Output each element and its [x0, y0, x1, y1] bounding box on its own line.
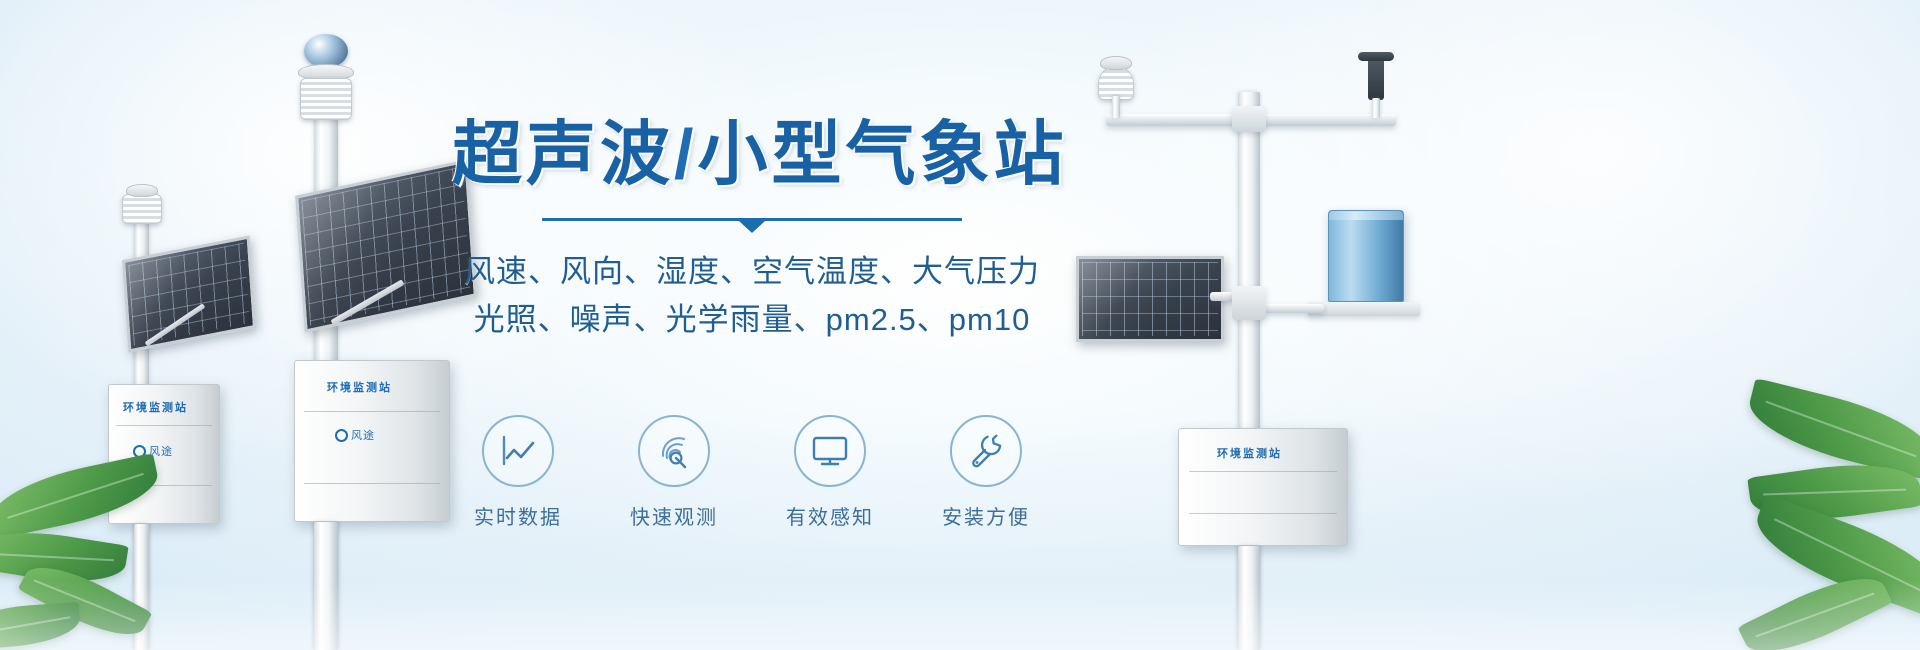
- cabinet-seam: [1189, 471, 1337, 472]
- station-mid-optical-dome-icon: [304, 34, 348, 68]
- feature-list: 实时数据 快速观测 有效感知: [452, 415, 1052, 530]
- cabinet-seam: [1189, 513, 1337, 514]
- feature-icon-circle: [638, 415, 710, 487]
- cabinet-seam: [304, 483, 440, 484]
- feature-item-easy-installation[interactable]: 安装方便: [920, 415, 1052, 530]
- feature-item-effective-sensing[interactable]: 有效感知: [764, 415, 896, 530]
- headline-left: 超声波: [452, 115, 674, 193]
- station-left-sensor-cap: [126, 184, 158, 197]
- monitor-screen-icon: [809, 434, 851, 468]
- station-right-sensor-stem: [1372, 98, 1380, 118]
- line-chart-icon: [498, 434, 538, 468]
- station-right-base-post: [1238, 546, 1260, 650]
- wrench-icon: [966, 432, 1006, 470]
- page-title: 超声波/小型气象站: [452, 118, 1052, 192]
- station-right-equipment-shelf: [1308, 302, 1420, 316]
- headline-right: 小型气象站: [697, 115, 1067, 193]
- station-mid-radiation-shield: [300, 78, 352, 120]
- feature-item-realtime-data[interactable]: 实时数据: [452, 415, 584, 530]
- brand-mark-icon: [335, 429, 348, 442]
- feature-label: 快速观测: [608, 501, 740, 530]
- station-mid-brand: 风途: [335, 427, 375, 443]
- station-mid-cabinet-label: 环境监测站: [327, 379, 392, 395]
- station-right-anemometer-cap: [1100, 56, 1132, 70]
- foliage-left: [0, 430, 250, 650]
- title-divider: [542, 218, 962, 234]
- station-right-anemometer-stem: [1112, 96, 1120, 118]
- station-right-wind-vane: [1358, 52, 1394, 61]
- subtitle-line-2: 光照、噪声、光学雨量、pm2.5、pm10: [452, 296, 1052, 344]
- foliage-right: [1630, 380, 1920, 650]
- station-right-mast-collar: [1232, 106, 1266, 132]
- brand-name: 风途: [351, 427, 375, 443]
- feature-label: 实时数据: [452, 501, 584, 530]
- feature-label: 安装方便: [920, 501, 1052, 530]
- feature-label: 有效感知: [764, 501, 896, 530]
- station-mid-cabinet: 环境监测站 风途: [294, 360, 450, 522]
- rain-gauge-rim: [1329, 211, 1403, 220]
- station-left-radiation-shield: [122, 194, 162, 224]
- divider-triangle-icon: [739, 221, 765, 233]
- feature-icon-circle: [950, 415, 1022, 487]
- feature-icon-circle: [482, 415, 554, 487]
- weather-station-right: 环境监测站: [1060, 48, 1440, 650]
- station-left-cabinet-label: 环境监测站: [123, 399, 188, 415]
- leaf-shape: [0, 602, 81, 650]
- station-right-rain-gauge: [1328, 210, 1404, 302]
- cabinet-seam: [116, 425, 213, 426]
- leaf-shape: [0, 453, 164, 539]
- cabinet-seam: [304, 411, 440, 412]
- subtitle-line-1: 风速、风向、湿度、空气温度、大气压力: [452, 248, 1052, 296]
- station-right-wind-sensor: [1368, 56, 1384, 100]
- station-mid-base-post: [314, 522, 338, 650]
- station-right-mast-collar: [1232, 286, 1266, 320]
- leaf-shape: [1742, 378, 1920, 480]
- feature-item-fast-observation[interactable]: 快速观测: [608, 415, 740, 530]
- station-right-solar-panel: [1076, 256, 1224, 342]
- panel-glare: [125, 239, 253, 349]
- station-right-ultrasonic-anemometer: [1098, 66, 1134, 100]
- product-banner: 环境监测站 风途 环境监测站 风途: [0, 0, 1920, 650]
- headline-slash: /: [674, 115, 697, 193]
- station-right-cabinet-label: 环境监测站: [1217, 445, 1282, 461]
- station-right-cabinet: 环境监测站: [1178, 428, 1348, 546]
- banner-copy: 超声波/小型气象站 风速、风向、湿度、空气温度、大气压力 光照、噪声、光学雨量、…: [452, 118, 1052, 344]
- panel-glare: [1079, 259, 1221, 339]
- radar-wave-icon: [654, 432, 694, 470]
- feature-icon-circle: [794, 415, 866, 487]
